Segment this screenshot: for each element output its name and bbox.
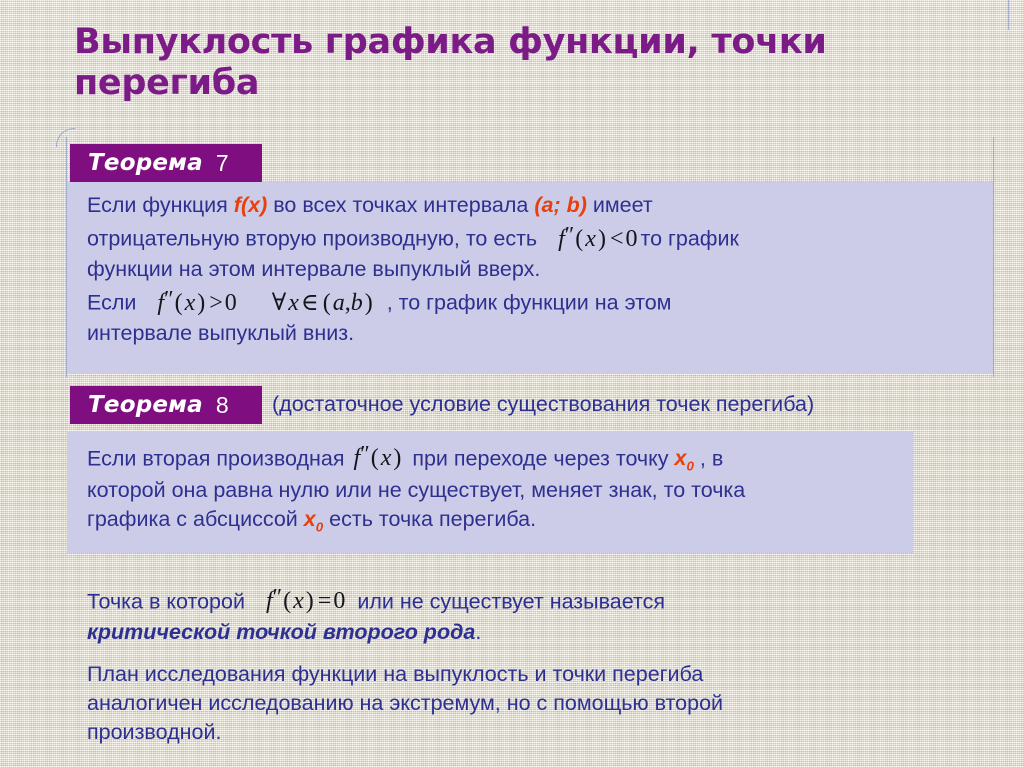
theorem-8-label: Теорема (88, 392, 203, 418)
formula-second-derivative-negative: f″(x)<0 (555, 226, 640, 252)
function-fx-accent: f(x) (234, 193, 267, 217)
point-x0-accent: x0 (675, 446, 694, 470)
abscissa-x0-accent: x0 (304, 507, 323, 531)
critical-point-note: Точка в которойf″(x)=0или не существует … (87, 583, 987, 647)
theorem-8-number: 8 (216, 392, 229, 419)
theorem-7-statement: Если функция f(x) во всех точках интерва… (67, 182, 993, 374)
theorem-8-subtitle: (достаточное условие существования точек… (272, 392, 814, 417)
theorem-7-line-3: функции на этом интервале выпуклый вверх… (87, 255, 979, 284)
theorem-7-line-5: интервале выпуклый вниз. (87, 319, 979, 348)
formula-second-derivative: f″(x) (351, 445, 407, 471)
theorem-7-line-4: Еслиf″(x)>0∀x∈(a,b), то график функции н… (87, 284, 979, 319)
interval-ab-accent: (a; b) (534, 193, 587, 217)
theorem-7-number: 7 (216, 150, 229, 177)
formula-second-derivative-zero: f″(x)=0 (263, 588, 348, 614)
plan-note-line-2: аналогичен исследованию на экстремум, но… (87, 689, 987, 718)
right-guide-line (993, 137, 994, 377)
critical-point-line-1: Точка в которойf″(x)=0или не существует … (87, 583, 987, 618)
page-title: Выпуклость графика функции, точки переги… (74, 22, 954, 105)
theorem-8-line-3: графика с абсциссой x0 есть точка переги… (87, 505, 899, 536)
theorem-8-banner: Теорема 8 (70, 386, 262, 424)
theorem-7-label: Теорема (88, 150, 203, 176)
theorem-7-line-1: Если функция f(x) во всех точках интерва… (87, 191, 979, 220)
theorem-8-statement: Если вторая производная f″(x) при перехо… (67, 431, 913, 553)
slide-canvas: Выпуклость графика функции, точки переги… (0, 0, 1024, 767)
plan-note-line-1: План исследования функции на выпуклость … (87, 660, 987, 689)
plan-note-line-3: производной. (87, 718, 987, 747)
theorem-8-line-1: Если вторая производная f″(x) при перехо… (87, 440, 899, 476)
top-right-guide-line (1008, 0, 1009, 30)
theorem-8-line-2: которой она равна нулю или не существует… (87, 476, 899, 505)
formula-for-all-x-in-ab: ∀x∈(a,b) (267, 290, 378, 316)
plan-note: План исследования функции на выпуклость … (87, 660, 987, 747)
theorem-7-banner: Теорема 7 (70, 144, 262, 182)
critical-point-line-2: критической точкой второго рода. (87, 618, 987, 647)
critical-point-term: критической точкой второго рода (87, 620, 475, 644)
formula-second-derivative-positive: f″(x)>0 (154, 290, 239, 316)
theorem-7-line-2: отрицательную вторую производную, то ест… (87, 220, 979, 255)
